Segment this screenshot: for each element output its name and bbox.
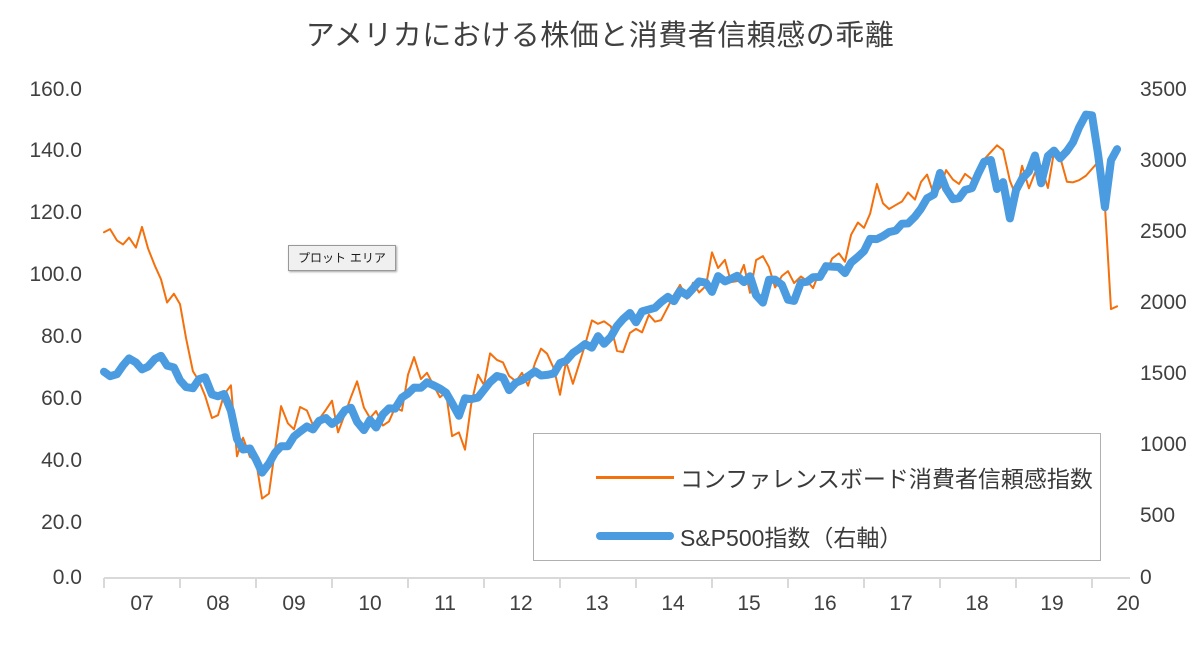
x-tick-label-07: 07 (112, 592, 172, 616)
plot-area-tooltip: プロット エリア (288, 245, 396, 271)
x-tick-label-12: 12 (491, 592, 551, 616)
legend-item-confidence[interactable]: コンファレンスボード消費者信頼感指数 (534, 460, 1100, 494)
x-tick-label-20: 20 (1098, 592, 1158, 616)
legend-item-sp500[interactable]: S&P500指数（右軸） (534, 519, 1100, 553)
x-tick-label-17: 17 (871, 592, 931, 616)
chart-legend[interactable]: コンファレンスボード消費者信頼感指数 S&P500指数（右軸） (533, 433, 1101, 561)
x-tick-label-19: 19 (1022, 592, 1082, 616)
x-tick-label-15: 15 (719, 592, 779, 616)
x-tick-label-08: 08 (188, 592, 248, 616)
x-tick-label-11: 11 (415, 592, 475, 616)
legend-label-sp500: S&P500指数（右軸） (680, 519, 902, 553)
x-tick-label-18: 18 (947, 592, 1007, 616)
x-tick-label-10: 10 (340, 592, 400, 616)
legend-label-confidence: コンファレンスボード消費者信頼感指数 (680, 460, 1093, 494)
x-axis (104, 578, 1130, 588)
chart-container: アメリカにおける株価と消費者信頼感の乖離 160.0 140.0 120.0 1… (0, 0, 1200, 653)
legend-swatch-confidence-line-icon (596, 476, 674, 479)
series-line-sp500 (104, 115, 1117, 473)
x-tick-label-13: 13 (567, 592, 627, 616)
x-tick-label-09: 09 (264, 592, 324, 616)
legend-swatch-sp500-line-icon (596, 532, 674, 540)
x-tick-label-14: 14 (643, 592, 703, 616)
x-axis-ticks (104, 578, 1092, 588)
x-tick-label-16: 16 (795, 592, 855, 616)
